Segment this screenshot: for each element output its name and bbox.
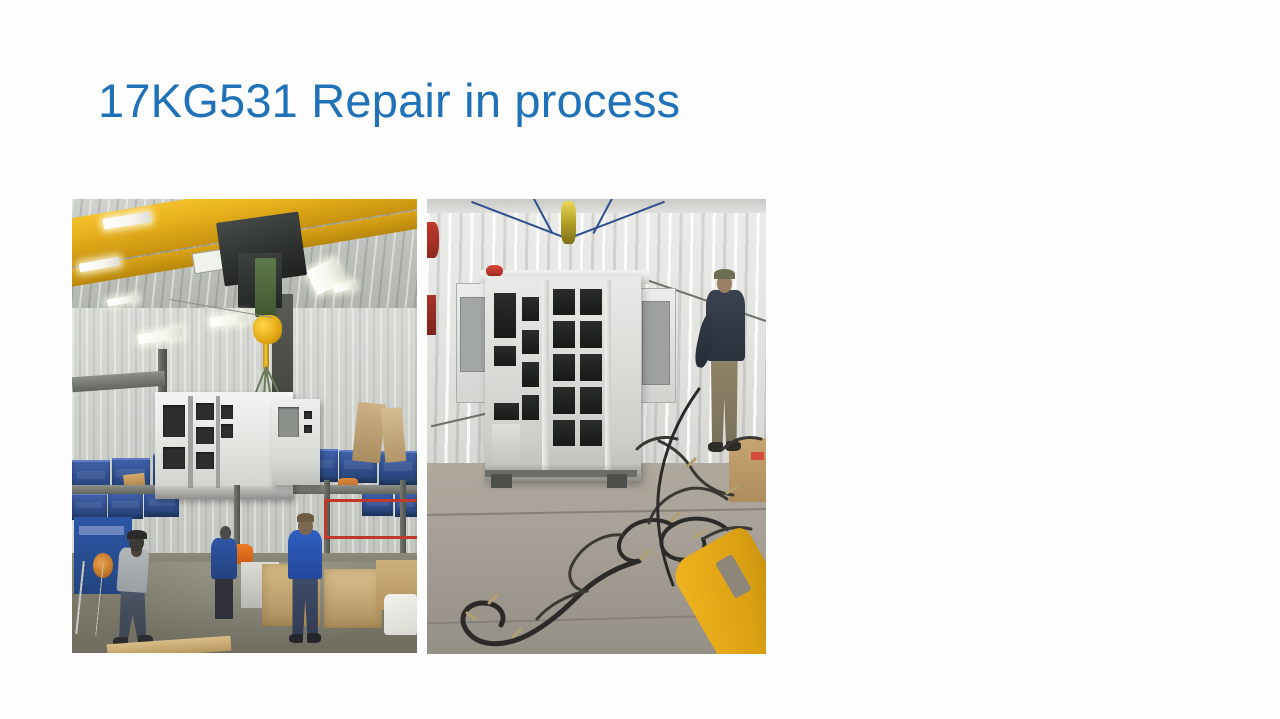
enclosure-cutout [278, 407, 299, 436]
worker-grey-shirt-cap [127, 530, 146, 539]
storage-tote [72, 493, 107, 520]
switchgear-enclosure-side-section [272, 399, 320, 485]
slide-canvas: 17KG531 Repair in process [0, 0, 1280, 719]
worker-blue-shirt-torso [288, 530, 323, 579]
hoist-motor [255, 258, 276, 317]
photo-left-scene [72, 199, 417, 653]
enclosure-rail [188, 396, 193, 488]
enclosure-cutout [304, 411, 312, 420]
white-wrapped-pallet [384, 594, 417, 635]
enclosure-cutout [196, 403, 214, 420]
enclosure-cutout [163, 405, 185, 437]
hook-shaft [263, 340, 269, 370]
enclosure-cutout [196, 452, 214, 469]
enclosure-shadow [155, 486, 293, 499]
enclosure-cutout [304, 425, 312, 434]
worker-blue-shirt-shoe [307, 633, 321, 643]
worker-blue-shirt-shoe [289, 634, 303, 644]
worker-at-bench-legs [215, 574, 234, 619]
enclosure-rail [216, 396, 219, 488]
red-rack-frame [324, 499, 417, 539]
enclosure-cutout [221, 405, 233, 419]
worker-blue-shirt-cap [297, 513, 314, 522]
page-title: 17KG531 Repair in process [98, 72, 1188, 130]
worker-at-bench-torso [211, 538, 237, 579]
photo-right-scene [427, 199, 766, 654]
wooden-crate [324, 569, 383, 628]
shelf-divider [79, 526, 124, 535]
enclosure-cutout [163, 447, 185, 468]
enclosure-cutout [221, 424, 233, 438]
enclosure-cutout [196, 427, 214, 444]
photo-crane-lift[interactable] [72, 199, 417, 653]
crane-hook-block [253, 315, 282, 345]
photo-cabinet-and-harness[interactable] [427, 199, 766, 654]
leaning-panel [380, 407, 405, 463]
storage-tote [108, 492, 143, 519]
